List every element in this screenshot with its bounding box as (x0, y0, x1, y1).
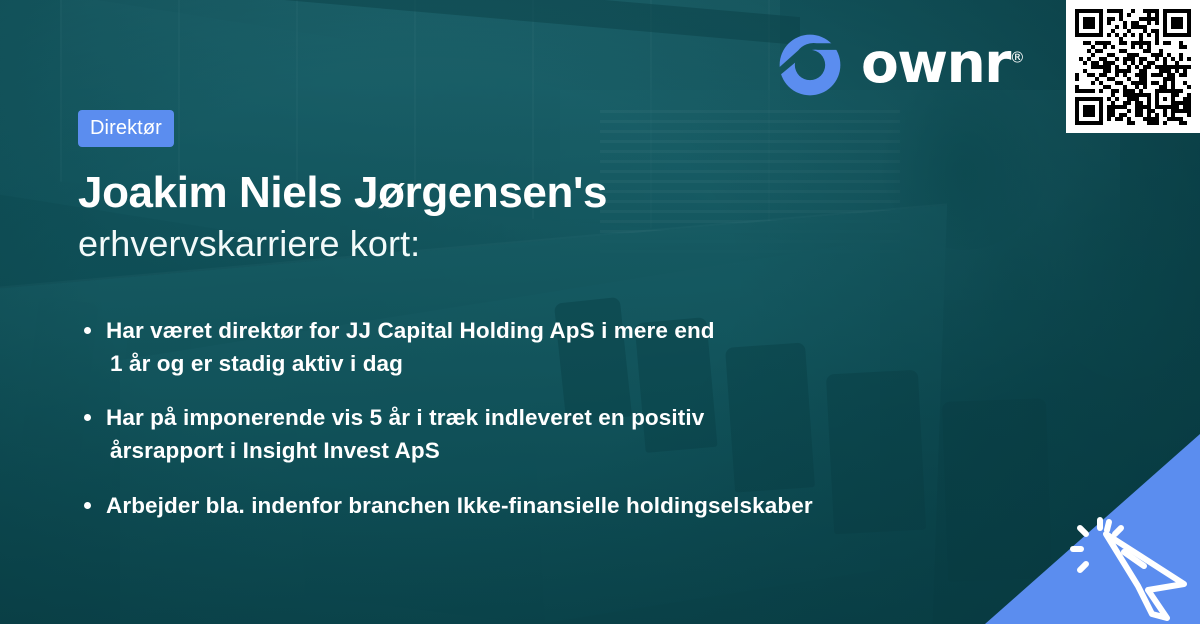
ownr-wordmark: ownr® (861, 36, 1025, 91)
ownr-logo: ownr® (777, 32, 1025, 98)
career-highlights-list: Har været direktør for JJ Capital Holdin… (78, 315, 1038, 522)
qr-code-panel[interactable] (1066, 0, 1200, 133)
list-item-line1: Har været direktør for JJ Capital Holdin… (106, 318, 715, 343)
page-subtitle: erhvervskarriere kort: (78, 223, 1038, 264)
qr-code-icon[interactable] (1075, 9, 1191, 125)
list-item-line2: årsrapport i Insight Invest ApS (106, 435, 1038, 468)
ownr-circle-swoosh-icon (777, 32, 843, 98)
list-item-line1: Har på imponerende vis 5 år i træk indle… (106, 405, 704, 430)
list-item: Arbejder bla. indenfor branchen Ikke-fin… (78, 490, 1038, 523)
business-career-card: ownr® Direktør Joakim Niels Jørgensen's … (0, 0, 1200, 624)
list-item: Har på imponerende vis 5 år i træk indle… (78, 402, 1038, 467)
list-item-line1: Arbejder bla. indenfor branchen Ikke-fin… (106, 493, 813, 518)
status-badge: Direktør (78, 110, 174, 147)
cursor-corner-decoration (985, 434, 1200, 624)
headline-block: Direktør Joakim Niels Jørgensen's erhver… (78, 110, 1038, 265)
page-title: Joakim Niels Jørgensen's (78, 169, 1038, 217)
list-item: Har været direktør for JJ Capital Holdin… (78, 315, 1038, 380)
registered-mark: ® (1010, 48, 1025, 66)
cursor-click-icon (1066, 510, 1194, 622)
list-item-line2: 1 år og er stadig aktiv i dag (106, 348, 1038, 381)
